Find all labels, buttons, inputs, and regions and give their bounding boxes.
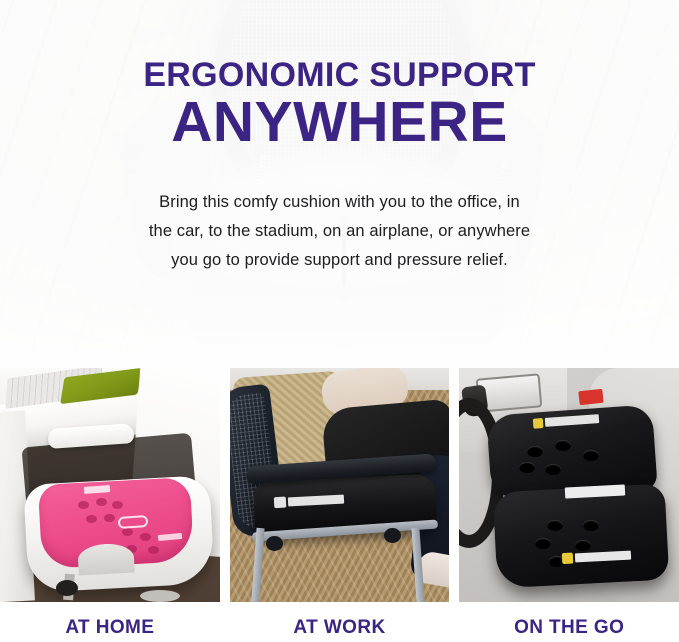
subcopy-line-1: Bring this comfy cushion with you to the… bbox=[54, 188, 625, 217]
hero-section: SEAT ULTRA DELCO SEAT ULTRA ULTRA ERGONO… bbox=[0, 0, 679, 368]
home-chair-caster bbox=[56, 580, 78, 596]
headline-line-2: ANYWHERE bbox=[38, 92, 641, 152]
use-case-photo-at-work bbox=[230, 368, 450, 602]
home-cushion-dimple bbox=[112, 501, 123, 509]
work-chair-caster-left bbox=[266, 536, 283, 551]
home-cushion-handle bbox=[118, 515, 149, 529]
use-case-photo-on-the-go bbox=[459, 368, 679, 602]
use-case-photo-at-home bbox=[0, 368, 220, 602]
caption-at-work: AT WORK bbox=[230, 602, 450, 642]
hero-copy-block: ERGONOMIC SUPPORT ANYWHERE Bring this co… bbox=[0, 56, 679, 275]
headline-line-1: ERGONOMIC SUPPORT bbox=[38, 56, 641, 94]
caption-on-the-go: ON THE GO bbox=[459, 602, 679, 642]
use-case-caption-row: AT HOME AT WORK ON THE GO bbox=[0, 602, 679, 642]
subcopy-line-2: the car, to the stadium, on an airplane,… bbox=[54, 217, 625, 246]
home-cushion-dimple bbox=[78, 501, 89, 509]
car-cushion-lower-lobe bbox=[493, 484, 670, 589]
subcopy-line-3: you go to provide support and pressure r… bbox=[54, 246, 625, 275]
home-cushion-dimple bbox=[86, 515, 97, 523]
car-seat-warning-tag bbox=[579, 389, 604, 405]
use-case-photo-row bbox=[0, 368, 679, 602]
work-chair-caster-right bbox=[384, 528, 401, 543]
home-cushion-dimple bbox=[96, 498, 107, 506]
home-cushion-dimple bbox=[122, 528, 133, 536]
home-cushion-dimple bbox=[104, 514, 115, 522]
home-cushion-dimple bbox=[140, 533, 151, 541]
home-chair-base-arm bbox=[140, 590, 180, 602]
home-cushion-dimple bbox=[148, 546, 159, 554]
hero-subcopy: Bring this comfy cushion with you to the… bbox=[38, 188, 641, 275]
caption-at-home: AT HOME bbox=[0, 602, 220, 642]
product-feature-image: SEAT ULTRA DELCO SEAT ULTRA ULTRA ERGONO… bbox=[0, 0, 679, 642]
